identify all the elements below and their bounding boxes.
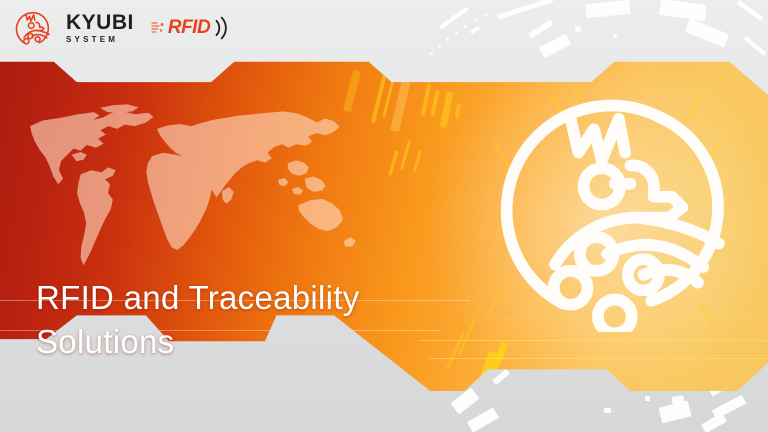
streak-decor-10	[388, 150, 398, 176]
dot-decor-5	[464, 25, 467, 28]
dash-decor-17	[450, 387, 479, 414]
dash-decor-4	[528, 20, 553, 39]
world-map-silhouette-icon	[12, 92, 362, 282]
dash-decor-15	[671, 395, 684, 405]
rfid-logo: RFID	[150, 15, 229, 41]
orange-gradient-panel	[0, 0, 768, 432]
dot-decor-3	[446, 38, 449, 41]
dot-decor-2	[438, 45, 441, 48]
dash-decor-19	[492, 369, 510, 385]
kyubi-circuit-circle-watermark-icon	[490, 72, 750, 332]
banner: KYUBI SYSTEM RFID RFID and T	[0, 0, 768, 432]
brand-logo-bar[interactable]: KYUBI SYSTEM RFID	[14, 8, 229, 48]
streak-decor-3	[390, 62, 415, 132]
dot-decor-6	[474, 19, 477, 22]
brand-name: KYUBI	[66, 12, 134, 33]
page-title: RFID and Traceability Solutions	[36, 276, 466, 363]
streak-decor-5	[430, 90, 439, 116]
dash-decor-2	[470, 25, 480, 34]
rfid-label: RFID	[168, 17, 210, 39]
rfid-chip-icon	[150, 19, 166, 37]
dot-decor-1	[430, 52, 433, 55]
dash-decor-18	[467, 407, 499, 432]
dash-decor-13	[659, 401, 692, 424]
dash-decor-6	[585, 0, 630, 18]
dash-decor-16	[604, 408, 611, 413]
dot-decor-8	[575, 26, 581, 32]
dot-decor-10	[645, 396, 650, 401]
rfid-signal-waves-icon	[213, 15, 229, 41]
brand-tagline: SYSTEM	[66, 36, 134, 44]
hairline-3	[420, 340, 768, 341]
dash-decor-10	[744, 36, 766, 56]
dot-decor-9	[613, 34, 617, 38]
dash-decor-3	[497, 0, 554, 20]
dot-decor-4	[455, 31, 458, 34]
page-title-line2: Solutions	[36, 320, 466, 364]
page-title-line1: RFID and Traceability	[36, 279, 360, 316]
streak-decor-1	[371, 64, 389, 123]
dash-decor-12	[712, 395, 747, 420]
dot-decor-7	[484, 14, 487, 17]
streak-decor-8	[400, 140, 411, 170]
streak-dot-1	[466, 58, 472, 64]
streak-decor-4	[421, 84, 432, 116]
dash-decor-1	[439, 7, 469, 30]
dash-decor-9	[736, 0, 763, 21]
dash-decor-7	[659, 0, 707, 21]
dash-decor-8	[685, 19, 729, 48]
hairline-4	[430, 358, 768, 359]
kyubi-wordmark: KYUBI SYSTEM	[66, 12, 134, 44]
streak-decor-21	[556, 371, 568, 388]
dash-decor-14	[701, 413, 727, 432]
dash-decor-5	[539, 34, 571, 59]
kyubi-circuit-circle-icon	[14, 8, 54, 48]
